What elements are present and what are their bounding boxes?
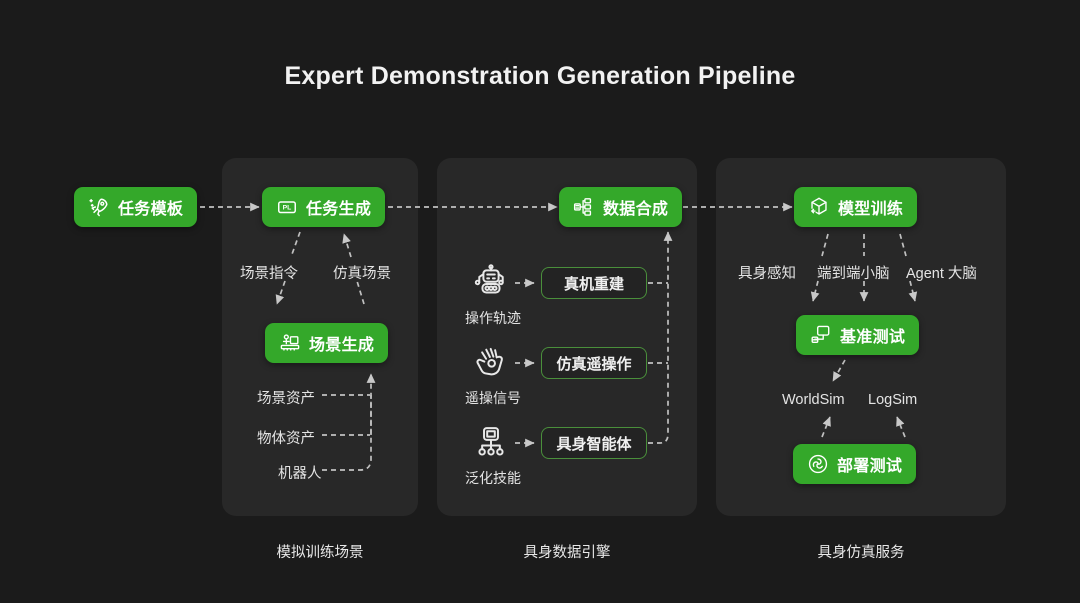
node-label: 场景生成 bbox=[309, 331, 374, 355]
panel-caption-embodied-data-engine: 具身数据引擎 bbox=[437, 541, 697, 562]
node-label: 数据合成 bbox=[603, 195, 668, 219]
node-benchmark-test[interactable]: 基准测试 bbox=[796, 315, 919, 355]
pipeline-diagram: Expert Demonstration Generation Pipeline bbox=[0, 0, 1080, 603]
source-label-generalization-skill: 泛化技能 bbox=[465, 468, 521, 488]
panel-caption-sim-training-scene: 模拟训练场景 bbox=[222, 541, 418, 562]
svg-text:PL: PL bbox=[283, 204, 292, 211]
pl-badge-icon: PL bbox=[276, 196, 298, 218]
edge-label-agent-brain: Agent 大脑 bbox=[906, 262, 977, 283]
deploy-circle-icon bbox=[807, 453, 829, 475]
edge-label-scene-instruction: 场景指令 bbox=[240, 262, 298, 283]
node-task-template[interactable]: 任务模板 bbox=[74, 187, 197, 227]
edge-label-embodied-perception: 具身感知 bbox=[738, 262, 796, 283]
rocket-icon bbox=[88, 196, 110, 218]
edge-label-logsim: LogSim bbox=[868, 392, 917, 408]
node-model-training[interactable]: 模型训练 bbox=[794, 187, 917, 227]
source-label-operation-trajectory: 操作轨迹 bbox=[465, 308, 521, 328]
edge-label-end-to-end-cerebellum: 端到端小脑 bbox=[817, 262, 890, 283]
box-label: 真机重建 bbox=[564, 273, 624, 294]
node-scene-generation[interactable]: 场景生成 bbox=[265, 323, 388, 363]
benchmark-screen-icon bbox=[810, 324, 832, 346]
box-label: 具身智能体 bbox=[556, 433, 631, 454]
box-embodied-agent[interactable]: 具身智能体 bbox=[541, 427, 647, 459]
input-label-robot: 机器人 bbox=[278, 462, 322, 483]
node-label: 基准测试 bbox=[840, 323, 905, 347]
node-deployment-test[interactable]: 部署测试 bbox=[793, 444, 916, 484]
scene-robot-icon bbox=[279, 332, 301, 354]
robot-icon bbox=[472, 264, 510, 302]
panel-caption-embodied-sim-service: 具身仿真服务 bbox=[716, 541, 1006, 562]
page-title: Expert Demonstration Generation Pipeline bbox=[0, 62, 1080, 91]
edge-label-worldsim: WorldSim bbox=[782, 392, 845, 408]
data-nodes-icon bbox=[573, 196, 595, 218]
node-label: 任务模板 bbox=[118, 195, 183, 219]
box-label: 仿真遥操作 bbox=[556, 353, 631, 374]
node-label: 部署测试 bbox=[837, 452, 902, 476]
agent-icon bbox=[472, 424, 510, 462]
node-label: 模型训练 bbox=[838, 195, 903, 219]
node-data-synthesis[interactable]: 数据合成 bbox=[559, 187, 682, 227]
node-label: 任务生成 bbox=[306, 195, 371, 219]
box-real-machine-reconstruction[interactable]: 真机重建 bbox=[541, 267, 647, 299]
edge-label-simulation-scene: 仿真场景 bbox=[333, 262, 391, 283]
input-label-scene-assets: 场景资产 bbox=[257, 387, 315, 408]
cube-train-icon bbox=[808, 196, 830, 218]
source-label-teleop-signal: 遥操信号 bbox=[465, 388, 521, 408]
node-task-generation[interactable]: PL 任务生成 bbox=[262, 187, 385, 227]
box-simulated-teleoperation[interactable]: 仿真遥操作 bbox=[541, 347, 647, 379]
input-label-object-assets: 物体资产 bbox=[257, 427, 315, 448]
glove-icon bbox=[472, 344, 510, 382]
